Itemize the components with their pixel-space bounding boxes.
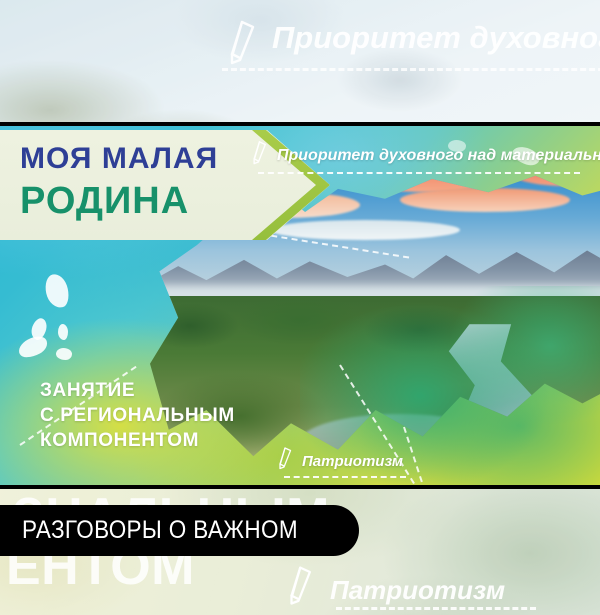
background-layer-top: Приоритет духовного на [0, 0, 600, 126]
page-title-line1: МОЯ МАЛАЯ [20, 130, 280, 174]
tag-spiritual-dash [258, 172, 580, 174]
page-title-line2: РОДИНА [20, 174, 280, 220]
subtitle-line2: С РЕГИОНАЛЬНЫМ [40, 403, 235, 428]
background-art-top [0, 0, 600, 126]
divider-top [0, 122, 600, 126]
program-badge: РАЗГОВОРЫ О ВАЖНОМ [0, 505, 359, 556]
map-island [56, 348, 72, 360]
subtitle-line1: ЗАНЯТИЕ [40, 378, 235, 403]
pencil-icon-ghost-top [228, 20, 260, 71]
poster-canvas: Приоритет духовного на [0, 0, 600, 615]
tag-patriotism-label: Патриотизм [302, 453, 403, 470]
tag-patriotism: Патриотизм [278, 446, 403, 476]
pencil-icon-ghost-bottom [288, 565, 316, 612]
background-ghost-dash-top [222, 68, 600, 71]
pencil-icon [252, 140, 269, 171]
tag-spiritual-priority: Приоритет духовного над материальным [252, 140, 600, 171]
pencil-icon [278, 446, 294, 476]
map-island [58, 324, 68, 340]
background-ghost-dash-bottom [336, 607, 536, 610]
cloud [270, 220, 460, 240]
cloud [400, 188, 570, 212]
subtitle-line3: КОМПОНЕНТОМ [40, 428, 235, 453]
title-text-block: МОЯ МАЛАЯ РОДИНА [0, 130, 280, 220]
divider-bottom [0, 485, 600, 489]
tag-patriotism-dash [284, 476, 406, 478]
subtitle-block: ЗАНЯТИЕ С РЕГИОНАЛЬНЫМ КОМПОНЕНТОМ [40, 378, 235, 453]
tag-spiritual-label: Приоритет духовного над материальным [277, 147, 600, 165]
program-badge-label: РАЗГОВОРЫ О ВАЖНОМ [22, 516, 298, 545]
